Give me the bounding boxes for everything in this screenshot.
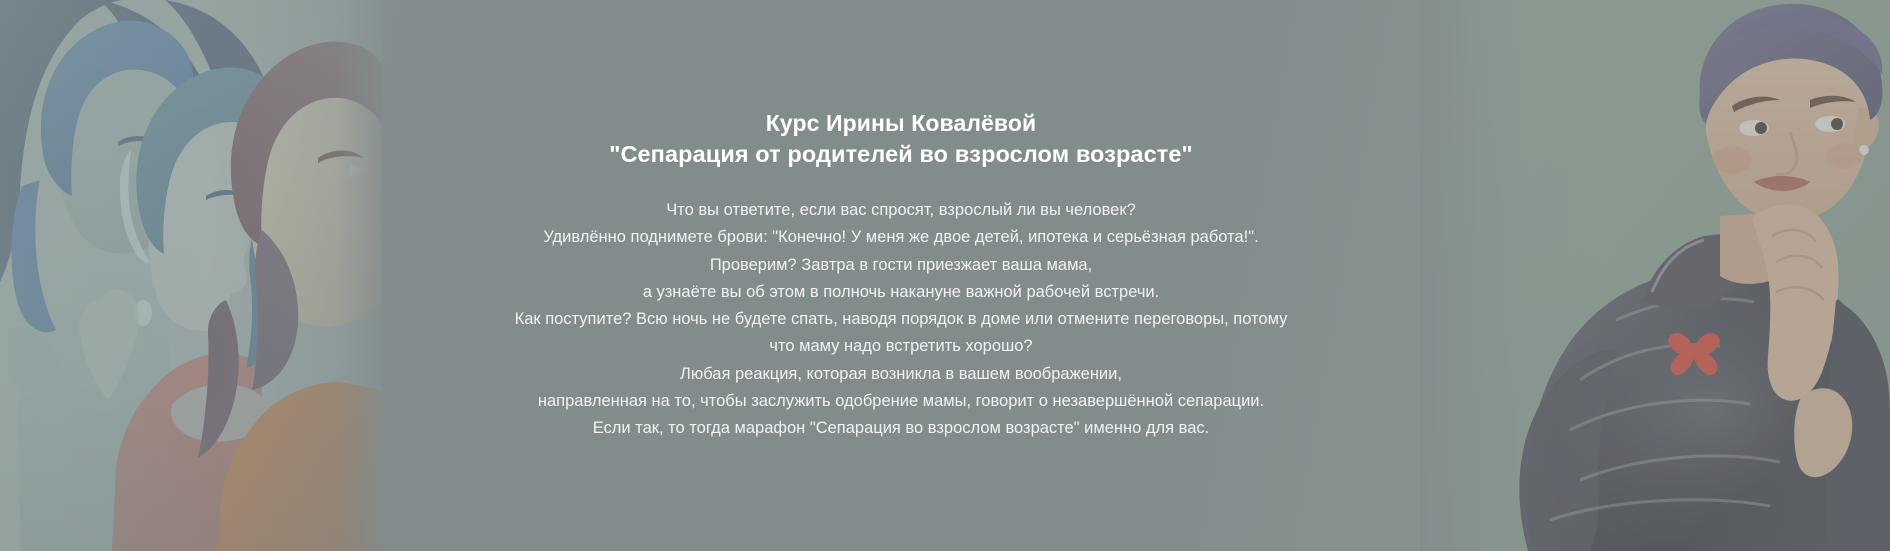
illustration-svg	[0, 0, 382, 551]
banner-content: Курс Ирины Ковалёвой "Сепарация от родит…	[382, 0, 1420, 551]
body-line: Удивлённо поднимете брови: "Конечно! У м…	[382, 224, 1420, 251]
body-line: Любая реакция, которая возникла в вашем …	[382, 361, 1420, 388]
body-line: Если так, то тогда марафон "Сепарация во…	[382, 415, 1420, 442]
title-line-2: "Сепарация от родителей во взрослом возр…	[609, 139, 1193, 170]
body-line: а узнаёте вы об этом в полночь накануне …	[382, 279, 1420, 306]
body-line: направленная на то, чтобы заслужить одоб…	[382, 388, 1420, 415]
portrait-svg	[1420, 0, 1890, 551]
body-line: что маму надо встретить хорошо?	[382, 333, 1420, 360]
portrait-grain	[1420, 0, 1890, 551]
body-line: Проверим? Завтра в гости приезжает ваша …	[382, 252, 1420, 279]
banner-body-text: Что вы ответите, если вас спросят, взрос…	[382, 197, 1420, 443]
title-line-1: Курс Ирины Ковалёвой	[609, 108, 1193, 139]
body-line: Как поступите? Всю ночь не будете спать,…	[382, 306, 1420, 333]
body-line: Что вы ответите, если вас спросят, взрос…	[382, 197, 1420, 224]
irina-kovalyova-portrait	[1420, 0, 1890, 551]
illustration-grain	[0, 0, 382, 551]
women-profiles-illustration	[0, 0, 382, 551]
course-banner: Курс Ирины Ковалёвой "Сепарация от родит…	[0, 0, 1890, 551]
page-title: Курс Ирины Ковалёвой "Сепарация от родит…	[609, 108, 1193, 170]
